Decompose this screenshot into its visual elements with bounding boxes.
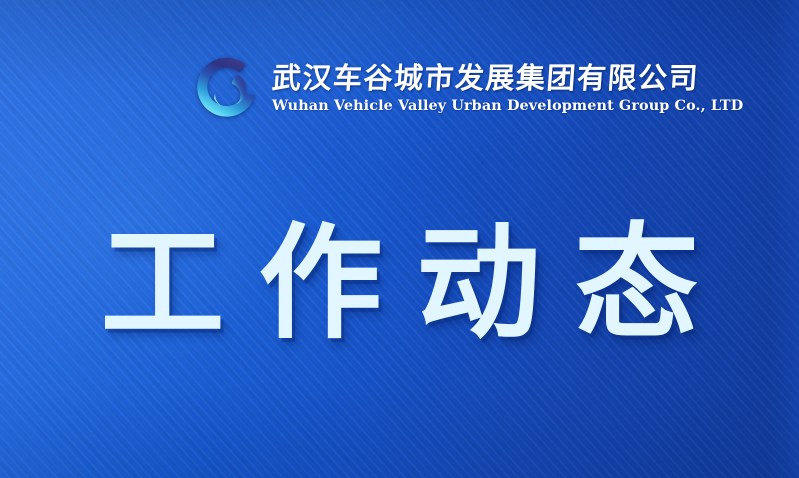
company-name-block: 武汉车谷城市发展集团有限公司 Wuhan Vehicle Valley Urba… [272, 61, 743, 115]
company-name-chinese: 武汉车谷城市发展集团有限公司 [271, 63, 700, 94]
company-name-english: Wuhan Vehicle Valley Urban Development G… [272, 97, 743, 115]
headline-title: 工作动态 [0, 222, 799, 346]
promotional-banner: 武汉车谷城市发展集团有限公司 Wuhan Vehicle Valley Urba… [0, 0, 799, 478]
swirl-vortex-icon [196, 56, 260, 120]
company-logo-lockup: 武汉车谷城市发展集团有限公司 Wuhan Vehicle Valley Urba… [196, 56, 743, 120]
